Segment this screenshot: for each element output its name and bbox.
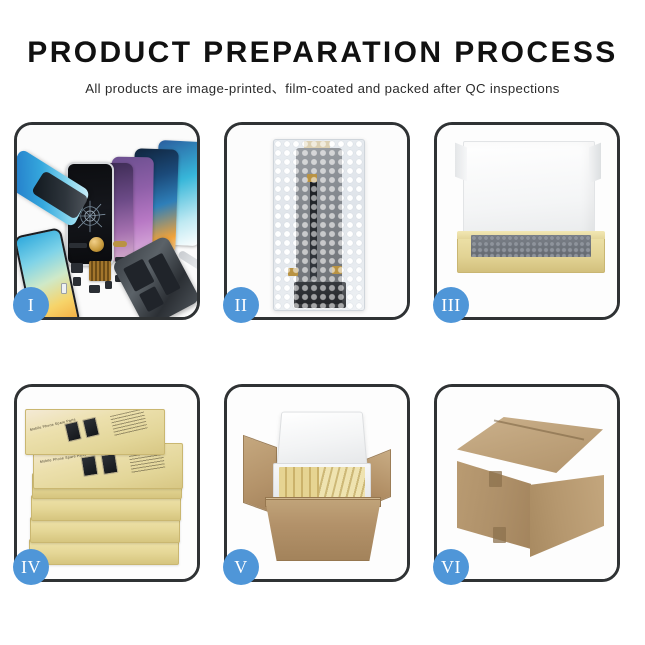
carton-handle-top [489, 471, 502, 487]
page-subtitle: All products are image-printed、film-coat… [0, 78, 645, 97]
box-lid-white [463, 141, 595, 245]
step-panel-5[interactable]: V [224, 384, 410, 582]
foam-case-lid [276, 412, 367, 468]
part-gold-connector [113, 241, 127, 247]
step-4-image: Mobile Phone Spare Parts Mobile Phone Sp… [17, 387, 197, 579]
bubble-wrap-bag [273, 139, 365, 311]
carton-body [265, 499, 381, 561]
wrapped-part [296, 148, 342, 304]
part-flex-1 [71, 263, 83, 273]
step-panel-6[interactable]: VI [434, 384, 620, 582]
wrapped-connector-right [332, 266, 342, 274]
box-lid-flap-right [589, 143, 601, 184]
stacked-box-1: Mobile Phone Spare Parts [25, 409, 165, 455]
step-3-image [437, 125, 617, 317]
step-badge-4: IV [13, 549, 49, 585]
wrapped-connector-top [307, 174, 317, 182]
box-screen-thumb-2 [82, 417, 100, 439]
step-6-image [437, 387, 617, 579]
step-badge-6: VI [433, 549, 469, 585]
bag-tape [304, 141, 330, 148]
carton-top-face [457, 417, 603, 473]
step-badge-2: II [223, 287, 259, 323]
step-panel-1[interactable]: I [14, 122, 200, 320]
wrapped-flex-cable [310, 180, 317, 280]
box-screen-thumb-3 [81, 455, 99, 477]
part-strip-1 [69, 243, 87, 248]
wrapped-part-base [294, 282, 346, 308]
step-panel-2[interactable]: II [224, 122, 410, 320]
step-1-image [17, 125, 197, 317]
wrapped-connector-left [288, 268, 298, 276]
coil-part-icon [89, 237, 104, 252]
part-flex-3 [89, 285, 100, 293]
step-panel-4[interactable]: Mobile Phone Spare Parts Mobile Phone Sp… [14, 384, 200, 582]
page-title: PRODUCT PREPARATION PROCESS [0, 36, 645, 69]
box-screen-thumb-4 [101, 453, 119, 475]
box-lid-flap-left [455, 143, 467, 182]
page-header: PRODUCT PREPARATION PROCESS All products… [0, 0, 645, 97]
part-small-screen [61, 283, 67, 294]
carton-right-face [530, 475, 604, 557]
carton-handle-bottom [493, 527, 506, 543]
step-badge-3: III [433, 287, 469, 323]
part-flex-4 [105, 281, 112, 289]
step-badge-1: I [13, 287, 49, 323]
step-2-image [227, 125, 407, 317]
foam-insert-grey [471, 235, 591, 257]
inner-box-stack: Mobile Phone Spare Parts Mobile Phone Sp… [25, 403, 193, 571]
box-spec-lines-1 [110, 409, 148, 438]
step-badge-5: V [223, 549, 259, 585]
box-screen-thumb-1 [64, 421, 82, 443]
process-steps-grid: I II III [14, 122, 631, 582]
loaded-inner-boxes-right [319, 467, 365, 497]
step-5-image [227, 387, 407, 579]
step-panel-3[interactable]: III [434, 122, 620, 320]
chip-array-part [89, 261, 111, 281]
part-flex-2 [73, 277, 81, 286]
